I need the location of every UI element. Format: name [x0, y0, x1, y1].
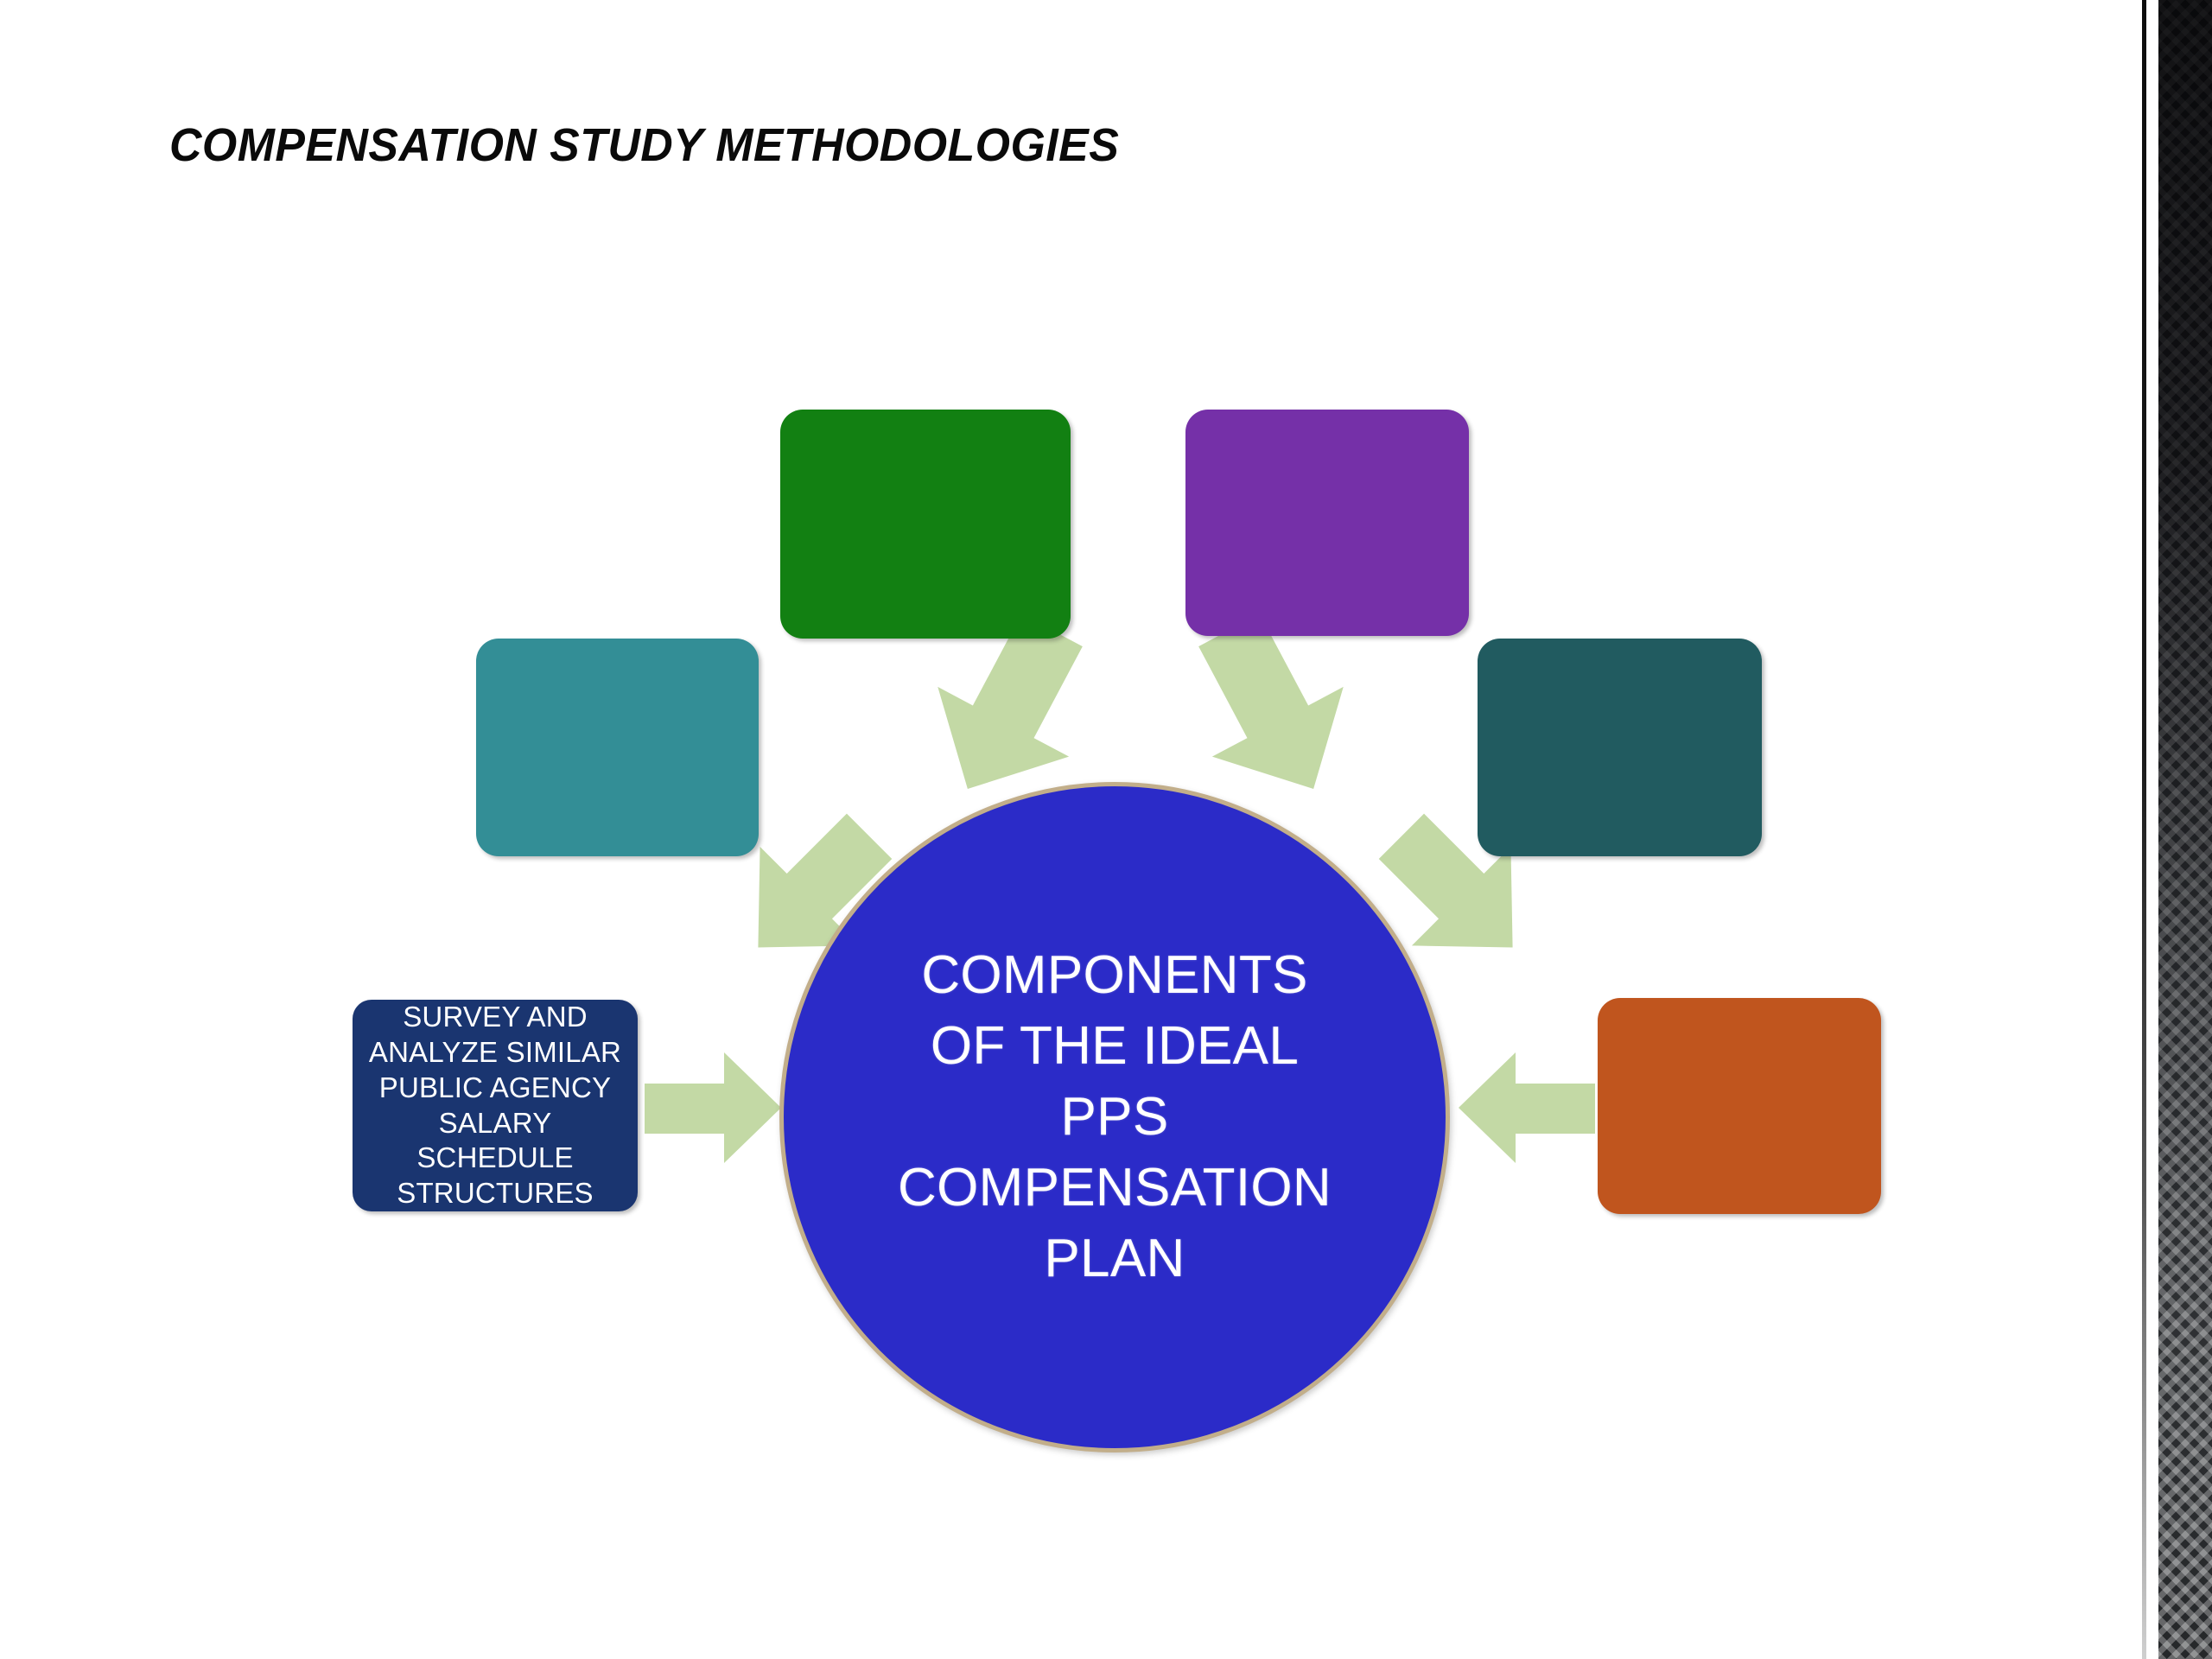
node-label-navy: SURVEY AND ANALYZE SIMILAR PUBLIC AGENCY… — [353, 1000, 638, 1211]
node-box-teal[interactable] — [476, 639, 759, 856]
node-box-dark-teal[interactable] — [1478, 639, 1762, 856]
node-box-navy-survey[interactable]: SURVEY AND ANALYZE SIMILAR PUBLIC AGENCY… — [353, 1000, 638, 1211]
arrow-from-navy-node — [645, 1052, 783, 1165]
node-box-green[interactable] — [780, 410, 1071, 639]
center-circle-label: COMPONENTS OF THE IDEAL PPS COMPENSATION… — [881, 940, 1348, 1294]
right-edge-gap — [2146, 0, 2158, 1659]
arrow-from-purple-node — [1158, 620, 1382, 802]
arrow-from-green-node — [899, 620, 1123, 802]
center-circle-node[interactable]: COMPONENTS OF THE IDEAL PPS COMPENSATION… — [779, 782, 1450, 1452]
node-box-orange[interactable] — [1598, 998, 1881, 1214]
node-box-purple[interactable] — [1185, 410, 1469, 636]
arrow-from-orange-node — [1457, 1052, 1595, 1165]
diagram-canvas: SURVEY AND ANALYZE SIMILAR PUBLIC AGENCY… — [0, 0, 2143, 1659]
presentation-slide: COMPENSATION STUDY METHODOLOGIES — [0, 0, 2212, 1659]
right-edge-texture-strip — [2158, 0, 2212, 1659]
